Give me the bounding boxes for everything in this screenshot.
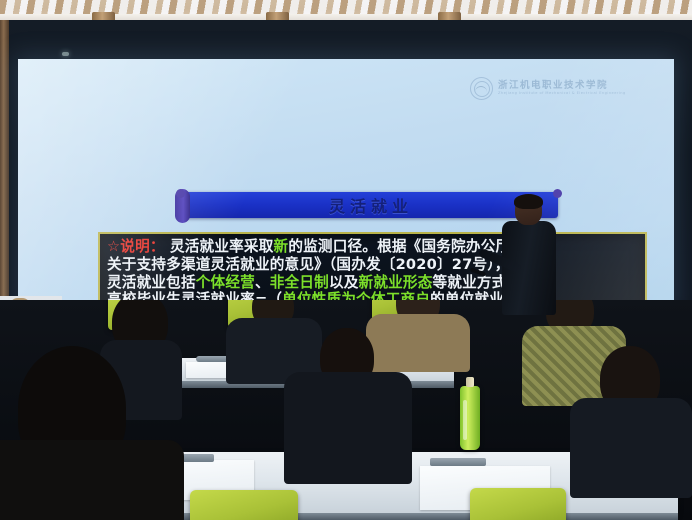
chair[interactable]: [470, 488, 566, 520]
screenshot-root: 浙江机电职业技术学院 Zhejiang Institute of Mechani…: [0, 0, 692, 520]
torso: [284, 372, 412, 484]
slide-body-text: ☆说明： 灵活就业率采取新的监测口径。根据《国务院办公厅关于支持多渠道灵活就业的…: [107, 238, 641, 309]
slide-body-line-3: 灵活就业包括个体经营、非全日制以及新就业形态等就业方式。: [107, 274, 641, 292]
highlight-text: 个体经营: [196, 274, 255, 291]
highlight-text: 非全日制: [270, 274, 329, 291]
body-text: 、: [255, 274, 270, 291]
body-text: 以及: [329, 274, 359, 291]
audience-area: [0, 300, 692, 520]
slide-text-box: ☆说明： 灵活就业率采取新的监测口径。根据《国务院办公厅关于支持多渠道灵活就业的…: [98, 232, 647, 309]
slide-body-line-2: 关于支持多渠道灵活就业的意见》（国办发〔2020〕27号），: [107, 256, 641, 274]
torso: [570, 398, 692, 498]
body-text: 关于支持多渠道灵活就业的意见》（国办发〔2020〕27号），: [107, 256, 510, 273]
logo-name-en: Zhejiang Institute of Mechanical & Elect…: [498, 92, 626, 96]
highlight-text: 新就业形态: [359, 274, 433, 291]
slide-body-line-1: ☆说明： 灵活就业率采取新的监测口径。根据《国务院办公厅: [107, 238, 641, 256]
logo-name-cn: 浙江机电职业技术学院: [498, 81, 626, 91]
wall-pillar-left: [0, 20, 9, 310]
university-seal-icon: [470, 77, 493, 100]
body-text: 灵活就业包括: [107, 274, 196, 291]
body-text: 灵活就业率采取: [165, 238, 274, 255]
wall-light-speck: [62, 52, 69, 56]
presenter-hair: [514, 194, 543, 209]
body-text: 的监测口径。根据《国务院办公厅: [288, 238, 510, 255]
emphasis-text: 说明：: [120, 238, 164, 255]
university-logo: 浙江机电职业技术学院 Zhejiang Institute of Mechani…: [470, 77, 626, 100]
torso: [0, 440, 184, 520]
green-tea-bottle[interactable]: [460, 386, 480, 450]
presenter-silhouette: [500, 196, 558, 314]
torso: [366, 314, 470, 372]
highlight-text: 新: [274, 238, 289, 255]
projection-screen: 浙江机电职业技术学院 Zhejiang Institute of Mechani…: [18, 59, 674, 309]
desk-microphone: [430, 458, 486, 466]
chair[interactable]: [190, 490, 298, 520]
emphasis-text: ☆: [107, 238, 120, 255]
